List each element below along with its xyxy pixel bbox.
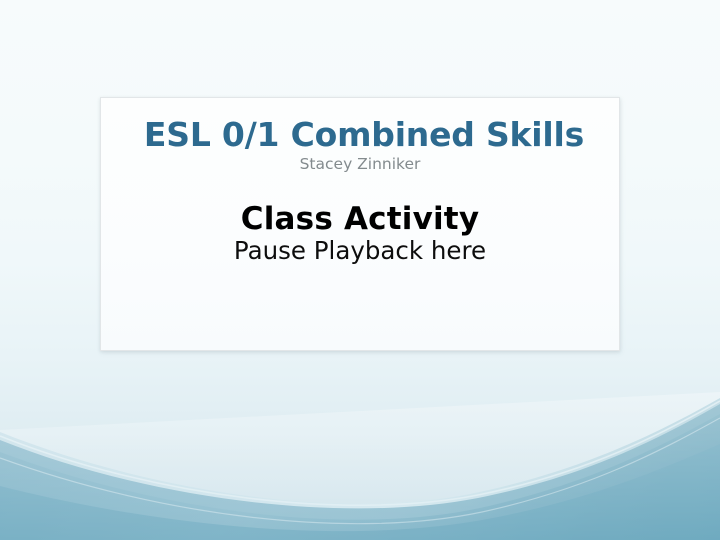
swoosh-layer-pale bbox=[0, 398, 720, 540]
slide-title: ESL 0/1 Combined Skills bbox=[101, 118, 619, 153]
slide-body-text: Pause Playback here bbox=[101, 236, 619, 265]
swoosh-highlight-line bbox=[0, 401, 720, 505]
presentation-slide: ESL 0/1 Combined Skills Stacey Zinniker … bbox=[0, 0, 720, 540]
slide-author: Stacey Zinniker bbox=[101, 153, 619, 174]
swoosh-layer-soft bbox=[0, 414, 720, 540]
slide-heading: Class Activity bbox=[101, 202, 619, 236]
slide-content-inner: ESL 0/1 Combined Skills Stacey Zinniker … bbox=[101, 98, 619, 265]
swoosh-layer-deep bbox=[0, 444, 720, 540]
swoosh-layer-main bbox=[0, 404, 720, 540]
content-spacer bbox=[101, 174, 619, 202]
swoosh-highlight-line-secondary bbox=[0, 418, 720, 524]
swoosh-sheen bbox=[0, 392, 720, 540]
slide-content-box: ESL 0/1 Combined Skills Stacey Zinniker … bbox=[100, 97, 620, 351]
